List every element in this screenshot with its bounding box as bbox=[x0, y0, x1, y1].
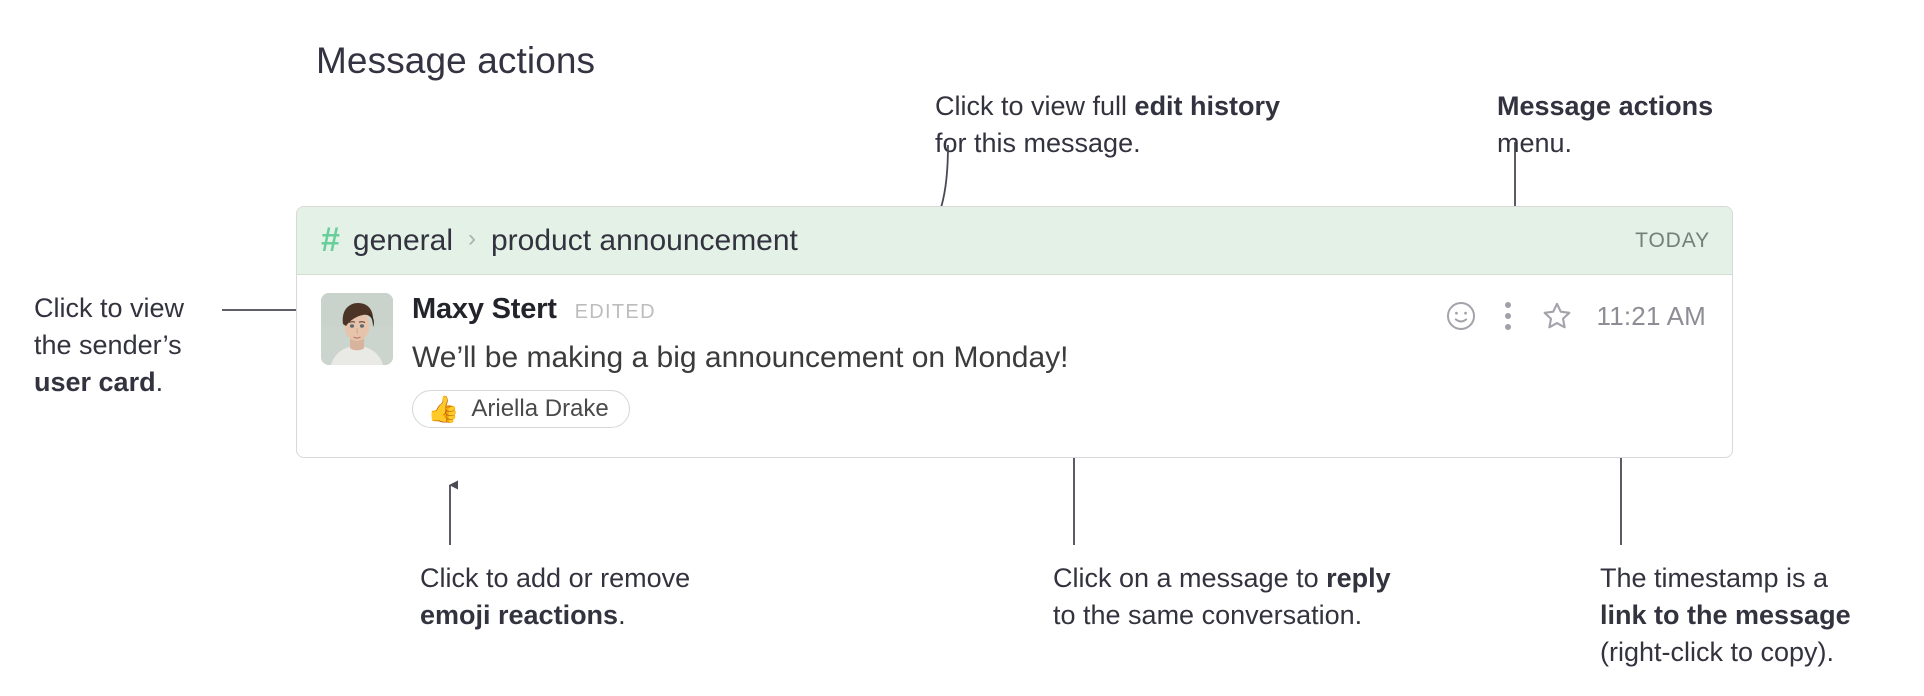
hash-icon: # bbox=[321, 223, 340, 257]
topic-name-link[interactable]: product announcement bbox=[491, 224, 798, 258]
annotation-actions-menu: Message actions menu. bbox=[1497, 88, 1713, 162]
annotation-timestamp-line3: (right-click to copy). bbox=[1600, 634, 1851, 671]
annotation-edit-history-strong: edit history bbox=[1135, 91, 1281, 121]
avatar[interactable] bbox=[321, 293, 393, 365]
reaction-label: Ariella Drake bbox=[471, 395, 608, 423]
edited-badge[interactable]: EDITED bbox=[575, 301, 656, 324]
message-timestamp-link[interactable]: 11:21 AM bbox=[1596, 301, 1706, 332]
reaction-pill[interactable]: 👍 Ariella Drake bbox=[412, 390, 630, 428]
chevron-right-icon: › bbox=[468, 225, 476, 253]
stream-name-link[interactable]: general bbox=[353, 224, 453, 258]
menu-dot bbox=[1505, 324, 1511, 330]
star-outline-icon bbox=[1540, 299, 1574, 333]
menu-dot bbox=[1505, 302, 1511, 308]
smiley-face-icon bbox=[1444, 299, 1478, 333]
vertical-ellipsis-icon bbox=[1505, 302, 1511, 330]
annotation-user-card-line2: the sender’s bbox=[34, 327, 184, 364]
reaction-list: 👍 Ariella Drake bbox=[412, 390, 1710, 428]
annotation-emoji-reactions: Click to add or remove emoji reactions. bbox=[420, 560, 690, 634]
annotation-timestamp-link: The timestamp is a link to the message (… bbox=[1600, 560, 1851, 671]
annotation-actions-menu-line2: menu. bbox=[1497, 125, 1713, 162]
thumbs-up-icon: 👍 bbox=[427, 396, 459, 422]
annotation-timestamp-strong: link to the message bbox=[1600, 600, 1851, 630]
annotation-reply-strong: reply bbox=[1326, 563, 1391, 593]
annotation-user-card-line1: Click to view bbox=[34, 290, 184, 327]
annotation-edit-history: Click to view full edit history for this… bbox=[935, 88, 1280, 162]
message-text[interactable]: We’ll be making a big announcement on Mo… bbox=[412, 338, 1710, 378]
annotation-reply-lead: Click on a message to bbox=[1053, 563, 1326, 593]
message-card: # general › product announcement TODAY bbox=[296, 206, 1733, 458]
annotation-emoji-reactions-line1: Click to add or remove bbox=[420, 560, 690, 597]
star-icon[interactable] bbox=[1540, 299, 1574, 333]
annotation-edit-history-line2: for this message. bbox=[935, 125, 1280, 162]
message-row[interactable]: Maxy Stert EDITED We’ll be making a big … bbox=[297, 275, 1732, 428]
annotation-reply-line2: to the same conversation. bbox=[1053, 597, 1391, 634]
annotation-edit-history-lead: Click to view full bbox=[935, 91, 1135, 121]
page-title: Message actions bbox=[316, 40, 595, 82]
annotation-emoji-reactions-strong: emoji reactions bbox=[420, 600, 618, 630]
message-recipient-bar[interactable]: # general › product announcement TODAY bbox=[297, 207, 1732, 275]
annotation-user-card-tail: . bbox=[156, 367, 164, 397]
menu-dot bbox=[1505, 313, 1511, 319]
annotation-user-card: Click to view the sender’s user card. bbox=[34, 290, 184, 401]
date-label[interactable]: TODAY bbox=[1635, 229, 1710, 253]
annotation-reply: Click on a message to reply to the same … bbox=[1053, 560, 1391, 634]
annotation-emoji-reactions-tail: . bbox=[618, 600, 626, 630]
message-actions-menu-icon[interactable] bbox=[1502, 300, 1514, 332]
emoji-picker-icon[interactable] bbox=[1444, 299, 1478, 333]
avatar-photo bbox=[321, 293, 393, 365]
annotation-user-card-strong: user card bbox=[34, 367, 156, 397]
annotation-timestamp-line1: The timestamp is a bbox=[1600, 560, 1851, 597]
message-actions: 11:21 AM bbox=[1444, 299, 1706, 333]
sender-name[interactable]: Maxy Stert bbox=[412, 293, 557, 326]
annotation-actions-menu-strong: Message actions bbox=[1497, 91, 1713, 121]
